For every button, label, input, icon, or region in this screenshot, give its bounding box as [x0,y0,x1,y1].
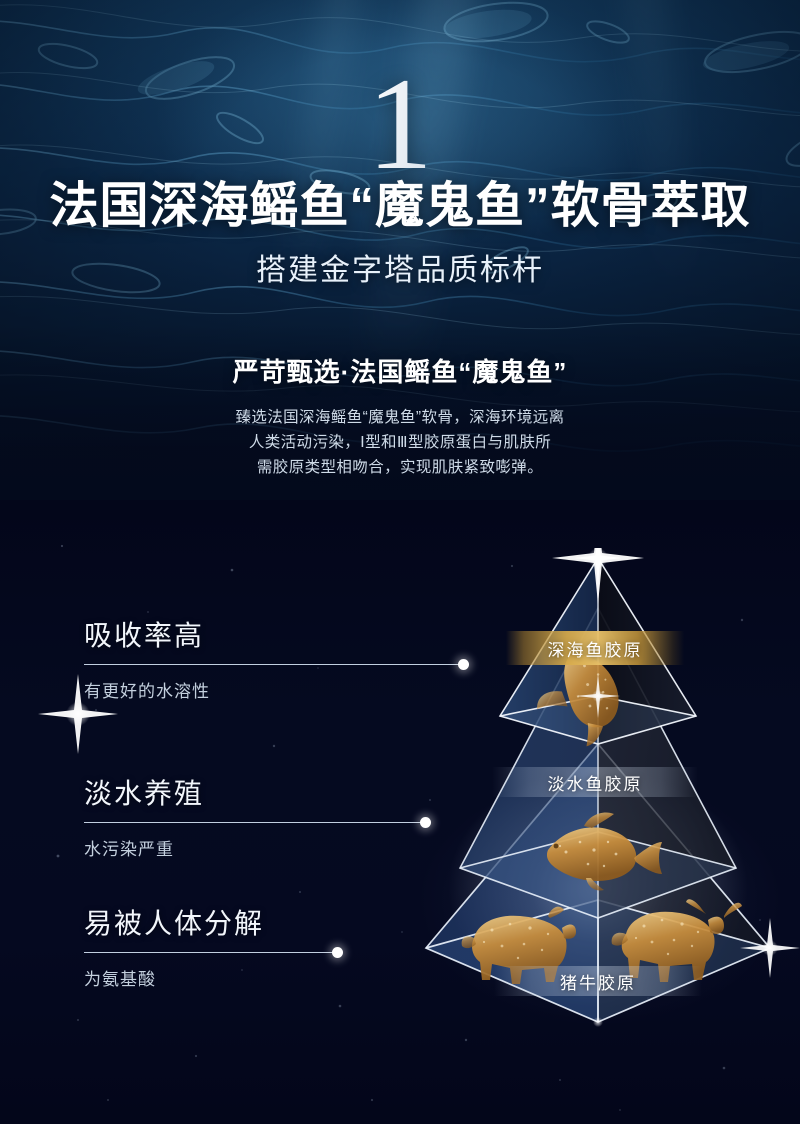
feature-item-degradable[interactable]: 易被人体分解 为氨基酸 [84,902,338,990]
feature-subtitle: 水污染严重 [84,835,426,860]
feature-connector-line [84,822,426,823]
pyramid-tier-label: 猪牛胶原 [560,969,636,994]
feature-title: 淡水养殖 [84,772,426,812]
description-line-3: 需胶原类型相吻合，实现肌肤紧致嘭弹。 [168,455,632,480]
pyramid-tier-band-deep-sea: 深海鱼胶原 [506,631,684,665]
pyramid-tier-band-freshwater: 淡水鱼胶原 [492,767,698,797]
feature-connector-dot [332,947,343,958]
section-description: 臻选法国深海鳐鱼“魔鬼鱼”软骨，深海环境远离 人类活动污染，Ⅰ型和Ⅲ型胶原蛋白与… [168,405,632,480]
page-subtitle: 搭建金字塔品质标杆 [0,245,800,289]
pyramid-tier-label: 淡水鱼胶原 [548,770,643,795]
description-line-2: 人类活动污染，Ⅰ型和Ⅲ型胶原蛋白与肌肤所 [168,430,632,455]
feature-item-freshwater[interactable]: 淡水养殖 水污染严重 [84,772,426,860]
promo-page: 1 法国深海鳐鱼“魔鬼鱼”软骨萃取 搭建金字塔品质标杆 严苛甄选·法国鳐鱼“魔鬼… [0,0,800,1124]
description-line-1: 臻选法国深海鳐鱼“魔鬼鱼”软骨，深海环境远离 [168,405,632,430]
page-title: 法国深海鳐鱼“魔鬼鱼”软骨萃取 [0,166,800,237]
sparkle-icon [593,1017,603,1027]
feature-subtitle: 为氨基酸 [84,965,338,990]
feature-connector-line [84,952,338,953]
pyramid-tier-label: 深海鱼胶原 [548,636,643,661]
feature-title: 易被人体分解 [84,902,338,942]
section-heading: 严苛甄选·法国鳐鱼“魔鬼鱼” [0,352,800,389]
sparkle-icon [552,548,644,604]
pyramid-tier-band-pig-cow: 猪牛胶原 [494,966,702,996]
